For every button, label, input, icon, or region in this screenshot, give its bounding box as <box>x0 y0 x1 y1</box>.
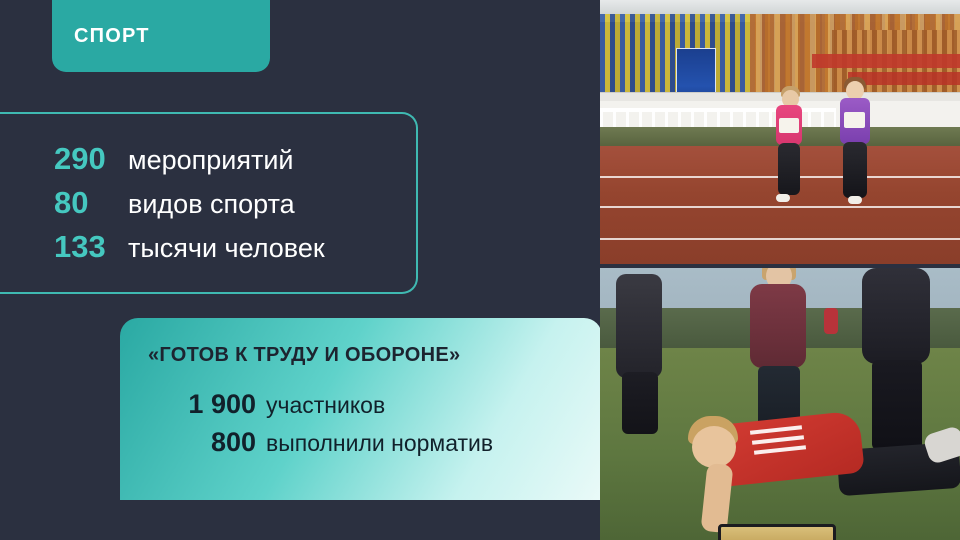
sport-stats-card: 290 мероприятий 80 видов спорта 133 тыся… <box>0 112 418 294</box>
stat-row: 133 тысячи человек <box>54 229 416 265</box>
slide-root: СПОРТ 290 мероприятий 80 видов спорта 13… <box>0 0 960 540</box>
stat-value: 80 <box>54 185 126 221</box>
runner-1-bib-number <box>779 118 799 133</box>
gto-row: 800 выполнили норматив <box>148 427 576 458</box>
pushup-platform <box>718 524 836 540</box>
gto-heading: «ГОТОВ К ТРУДУ И ОБОРОНЕ» <box>148 344 602 367</box>
section-title-chip: СПОРТ <box>52 0 270 72</box>
gto-rows: 1 900 участников 800 выполнили норматив <box>148 389 602 458</box>
runner-2-bib-number <box>844 112 865 128</box>
background-runner <box>824 308 838 334</box>
stat-value: 133 <box>54 229 126 265</box>
stadium-runners-photo <box>600 0 960 264</box>
stat-row: 80 видов спорта <box>54 185 416 221</box>
runner-2-shoe <box>848 196 862 204</box>
photo-column <box>600 0 960 540</box>
stat-label: тысячи человек <box>128 233 325 264</box>
bystander-right-torso <box>862 268 930 364</box>
runner-1-legs <box>778 143 800 195</box>
stat-label: видов спорта <box>128 189 295 220</box>
runner-2-legs <box>843 142 867 198</box>
stat-row: 290 мероприятий <box>54 141 416 177</box>
track-lane-line <box>600 238 960 240</box>
gto-card: «ГОТОВ К ТРУДУ И ОБОРОНЕ» 1 900 участник… <box>120 318 602 500</box>
gto-row: 1 900 участников <box>148 389 576 420</box>
bystander-left-legs <box>622 372 658 434</box>
bystander-middle-torso <box>750 284 806 368</box>
gto-label: участников <box>266 392 385 419</box>
stadium-banner-red <box>812 54 960 68</box>
stat-value: 290 <box>54 141 126 177</box>
bystander-right-legs <box>872 360 922 450</box>
gto-label: выполнили норматив <box>266 430 493 457</box>
athlete-head <box>692 426 736 468</box>
gto-value: 800 <box>148 427 256 458</box>
runner-1-shoe <box>776 194 790 202</box>
bystander-left-torso <box>616 274 662 378</box>
stat-label: мероприятий <box>128 145 293 176</box>
page-title: СПОРТ <box>74 25 150 48</box>
pushup-athlete-photo <box>600 268 960 540</box>
track-lane-line <box>600 206 960 208</box>
gto-value: 1 900 <box>148 389 256 420</box>
